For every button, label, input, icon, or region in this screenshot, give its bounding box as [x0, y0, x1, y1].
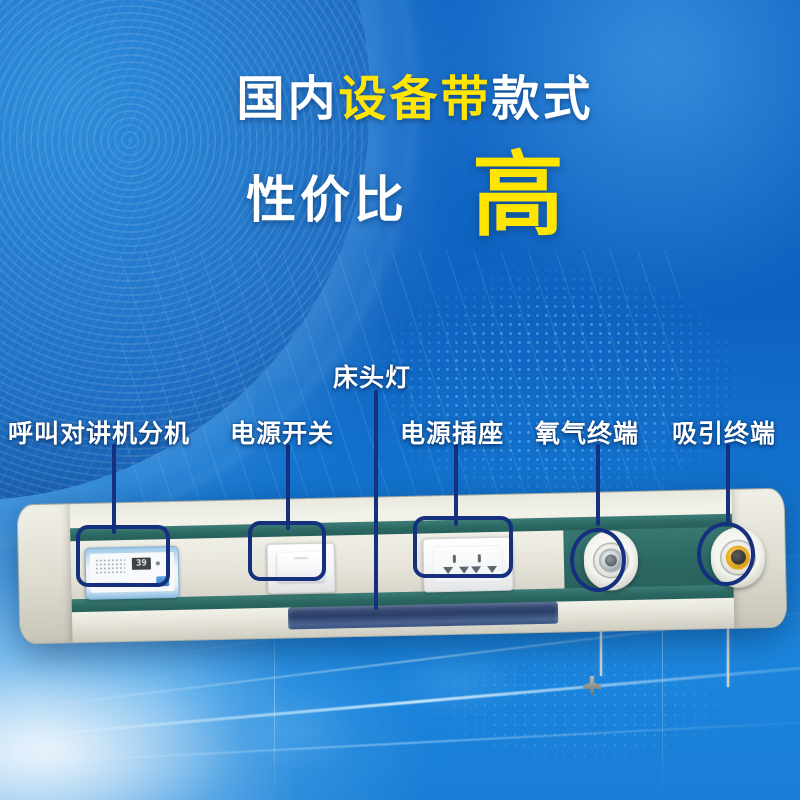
marker-suction-outlet	[697, 522, 755, 586]
callout-label-intercom: 呼叫对讲机分机	[8, 414, 190, 450]
headline-part-1: 国内	[236, 73, 338, 126]
marker-power-switch	[248, 521, 326, 581]
headline-part-2-accent: 设备带	[338, 73, 491, 126]
leader-line-intercom	[112, 444, 116, 534]
callout-label-bed-lamp: 床头灯	[333, 358, 411, 394]
headline-part-3: 款式	[492, 73, 594, 126]
leader-line-bed-lamp	[374, 390, 378, 610]
callout-label-power-switch: 电源开关	[230, 414, 334, 450]
headline-block: 国内设备带款式 性价比 高	[0, 76, 800, 239]
leader-line-power-socket	[454, 444, 458, 526]
headline-accent-char: 高	[472, 154, 564, 239]
callout-label-suction-outlet: 吸引终端	[672, 414, 776, 450]
callout-label-oxygen-outlet: 氧气终端	[535, 414, 639, 450]
leader-line-power-switch	[286, 444, 290, 530]
marker-intercom	[76, 525, 170, 587]
marker-oxygen-outlet	[570, 528, 626, 592]
headline-line-1: 国内设备带款式	[0, 76, 800, 124]
headline-line-2: 性价比 高	[0, 154, 800, 239]
panel-end-cap-left	[18, 504, 73, 643]
callout-label-power-socket: 电源插座	[400, 414, 504, 450]
leader-line-oxygen-outlet	[596, 444, 600, 526]
leader-line-suction-outlet	[726, 444, 730, 524]
marker-power-socket	[413, 516, 513, 578]
halftone-world-map	[380, 230, 800, 530]
headline-subtext: 性价比	[246, 160, 408, 232]
poster-canvas: 国内设备带款式 性价比 高 呼叫对讲机分机 电源开关 床头灯 电源插座 氧气终端…	[0, 0, 800, 800]
